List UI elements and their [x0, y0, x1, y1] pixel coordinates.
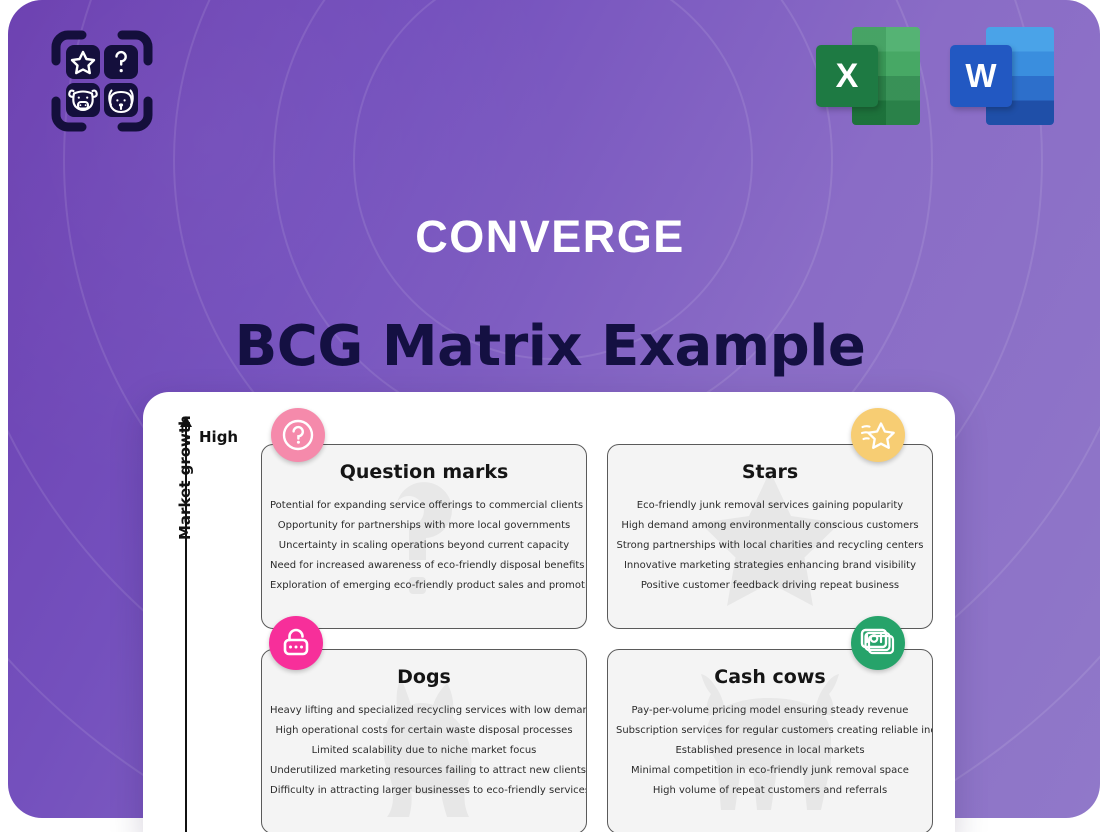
list-item: Opportunity for partnerships with more l… — [262, 515, 586, 535]
list-item: Established presence in local markets — [608, 740, 932, 760]
list-item: Difficulty in attracting larger business… — [262, 780, 586, 800]
logo-tile-cow — [66, 83, 100, 117]
banknotes-icon[interactable] — [851, 616, 905, 670]
excel-icon[interactable]: X — [816, 27, 920, 125]
list-item: Need for increased awareness of eco-frie… — [262, 555, 586, 575]
list-item: Limited scalability due to niche market … — [262, 740, 586, 760]
list-item: Potential for expanding service offering… — [262, 495, 586, 515]
list-item: Innovative marketing strategies enhancin… — [608, 555, 932, 575]
list-item: Minimal competition in eco-friendly junk… — [608, 760, 932, 780]
list-item: Strong partnerships with local charities… — [608, 535, 932, 555]
list-item: High operational costs for certain waste… — [262, 720, 586, 740]
quadrant-item-list: Potential for expanding service offering… — [262, 495, 586, 595]
list-item: High demand among environmentally consci… — [608, 515, 932, 535]
quadrant-stars[interactable]: Stars Eco-friendly junk removal services… — [607, 444, 933, 629]
bcg-matrix-card: High Market growth Question marks Potent… — [143, 392, 955, 832]
padlock-icon[interactable] — [269, 616, 323, 670]
quadrant-question-marks[interactable]: Question marks Potential for expanding s… — [261, 444, 587, 629]
list-item: Underutilized marketing resources failin… — [262, 760, 586, 780]
slide-canvas: X W CONVERGE BCG Matrix Example High Mar… — [0, 0, 1100, 832]
list-item: Eco-friendly junk removal services gaini… — [608, 495, 932, 515]
quadrant-title: Dogs — [262, 666, 586, 688]
y-axis-title: Market growth — [176, 415, 194, 540]
list-item: Heavy lifting and specialized recycling … — [262, 700, 586, 720]
quadrant-item-list: Heavy lifting and specialized recycling … — [262, 700, 586, 800]
brand-kicker: CONVERGE — [0, 211, 1100, 263]
axis-high-label: High — [199, 428, 238, 446]
quadrant-title: Stars — [608, 461, 932, 483]
quadrant-title: Question marks — [262, 461, 586, 483]
page-title: BCG Matrix Example — [0, 314, 1100, 379]
quadrant-dogs[interactable]: Dogs Heavy lifting and specialized recyc… — [261, 649, 587, 832]
logo-tile-star — [66, 45, 100, 79]
office-badges: X W — [816, 27, 1054, 125]
word-icon-letter: W — [950, 45, 1012, 107]
list-item: Subscription services for regular custom… — [608, 720, 932, 740]
list-item: Pay-per-volume pricing model ensuring st… — [608, 700, 932, 720]
star-shooting-icon[interactable] — [851, 408, 905, 462]
converge-bcg-logo[interactable] — [48, 27, 156, 135]
quadrant-cash-cows[interactable]: Cash cows Pay-per-volume pricing model e… — [607, 649, 933, 832]
quadrant-item-list: Eco-friendly junk removal services gaini… — [608, 495, 932, 595]
list-item: High volume of repeat customers and refe… — [608, 780, 932, 800]
list-item: Uncertainty in scaling operations beyond… — [262, 535, 586, 555]
list-item: Positive customer feedback driving repea… — [608, 575, 932, 595]
question-mark-circle-icon[interactable] — [271, 408, 325, 462]
word-icon[interactable]: W — [950, 27, 1054, 125]
quadrant-item-list: Pay-per-volume pricing model ensuring st… — [608, 700, 932, 800]
quadrant-grid: Question marks Potential for expanding s… — [261, 444, 933, 832]
excel-icon-letter: X — [816, 45, 878, 107]
list-item: Exploration of emerging eco-friendly pro… — [262, 575, 586, 595]
